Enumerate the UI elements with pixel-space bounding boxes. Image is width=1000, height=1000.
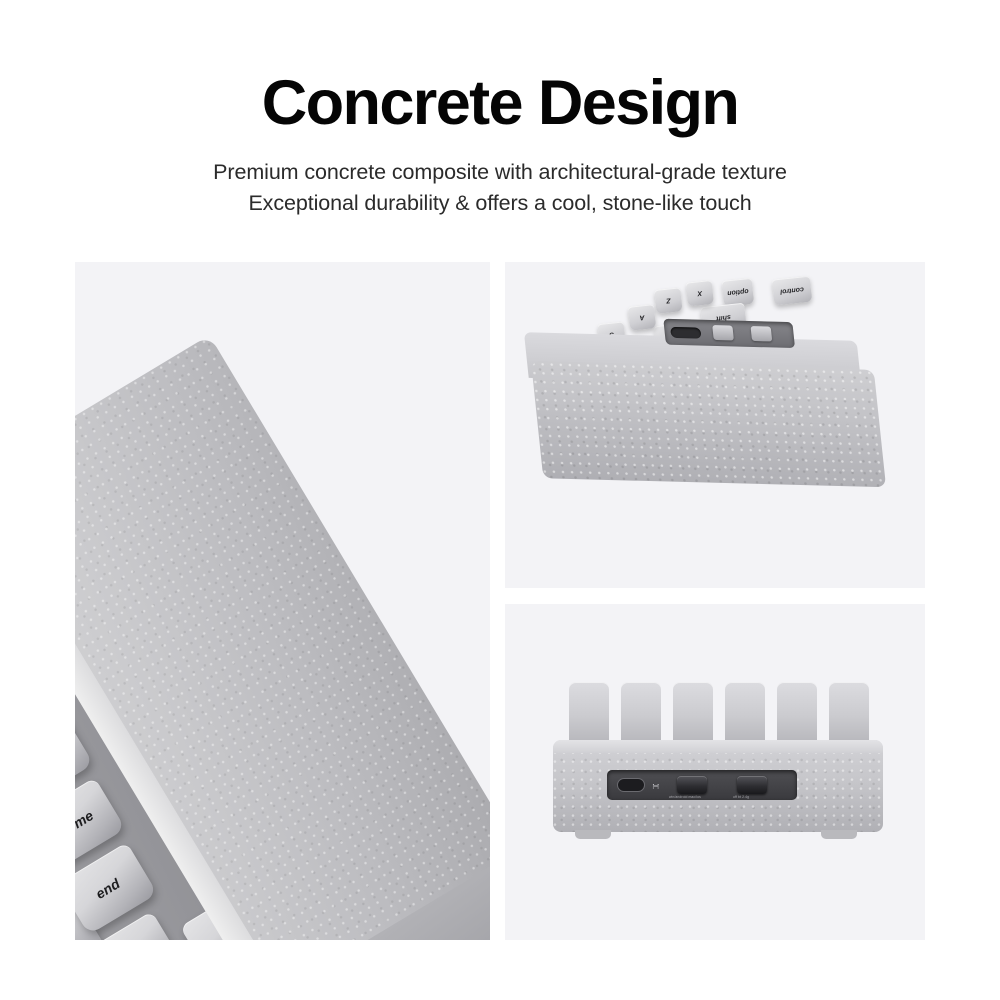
usb-icon: ∺ <box>652 782 666 790</box>
case-wall-rear <box>531 361 886 487</box>
header: Concrete Design Premium concrete composi… <box>0 72 1000 218</box>
keyboard-body-rear: option control shift caps lock tab esc X… <box>510 262 925 560</box>
subtitle-block: Premium concrete composite with architec… <box>0 157 1000 218</box>
keycap-control-rear: control <box>772 276 813 306</box>
subtitle-line-2: Exceptional durability & offers a cool, … <box>0 188 1000 219</box>
keyboard-body-side: ∺ win/android mac/ios off bt 2.4g <box>553 682 883 872</box>
keyboard-photo-side: ∺ win/android mac/ios off bt 2.4g <box>505 604 925 940</box>
photo-panel-rear-ports: option control shift caps lock tab esc X… <box>505 262 925 588</box>
os-toggle-switch-side[interactable] <box>677 776 707 794</box>
keycap-letter-z: Z <box>654 287 682 314</box>
keyboard-body: ☀ del kspace \ ← enter ⇧ shift c <box>75 262 490 940</box>
keyboard-photo-rear: option control shift caps lock tab esc X… <box>505 262 925 588</box>
keycap-profile-5 <box>777 682 817 744</box>
keycap-profile-1 <box>569 682 609 744</box>
keycap-profile-6 <box>829 682 869 744</box>
usb-c-port[interactable] <box>670 327 701 339</box>
connection-toggle-switch[interactable] <box>751 326 773 341</box>
keycap-profile-3 <box>673 682 713 744</box>
keyboard-photo-hero: ☀ del kspace \ ← enter ⇧ shift c <box>75 262 490 940</box>
photo-panel-side-profile: ∺ win/android mac/ios off bt 2.4g <box>505 604 925 940</box>
os-toggle-label: win/android mac/ios <box>669 795 701 799</box>
keycap-letter-x: X <box>686 280 714 307</box>
product-feature-card: Concrete Design Premium concrete composi… <box>0 0 1000 1000</box>
keycap-profile-2 <box>621 682 661 744</box>
photo-panel-hero-corner: ☀ del kspace \ ← enter ⇧ shift c <box>75 262 490 940</box>
case-foot-right <box>821 830 857 839</box>
keycap-profile-4 <box>725 682 765 744</box>
case-top-bevel-side <box>553 740 883 753</box>
case-foot-left <box>575 830 611 839</box>
connection-toggle-label: off bt 2.4g <box>733 795 749 799</box>
connection-toggle-switch-side[interactable] <box>737 776 767 794</box>
port-recess: ∺ win/android mac/ios off bt 2.4g <box>607 770 797 800</box>
page-title: Concrete Design <box>0 72 1000 135</box>
usb-c-port-side[interactable] <box>617 778 645 792</box>
subtitle-line-1: Premium concrete composite with architec… <box>0 157 1000 188</box>
keycap-letter-a: A <box>628 304 656 331</box>
os-toggle-switch[interactable] <box>712 325 734 340</box>
port-channel <box>663 319 795 348</box>
